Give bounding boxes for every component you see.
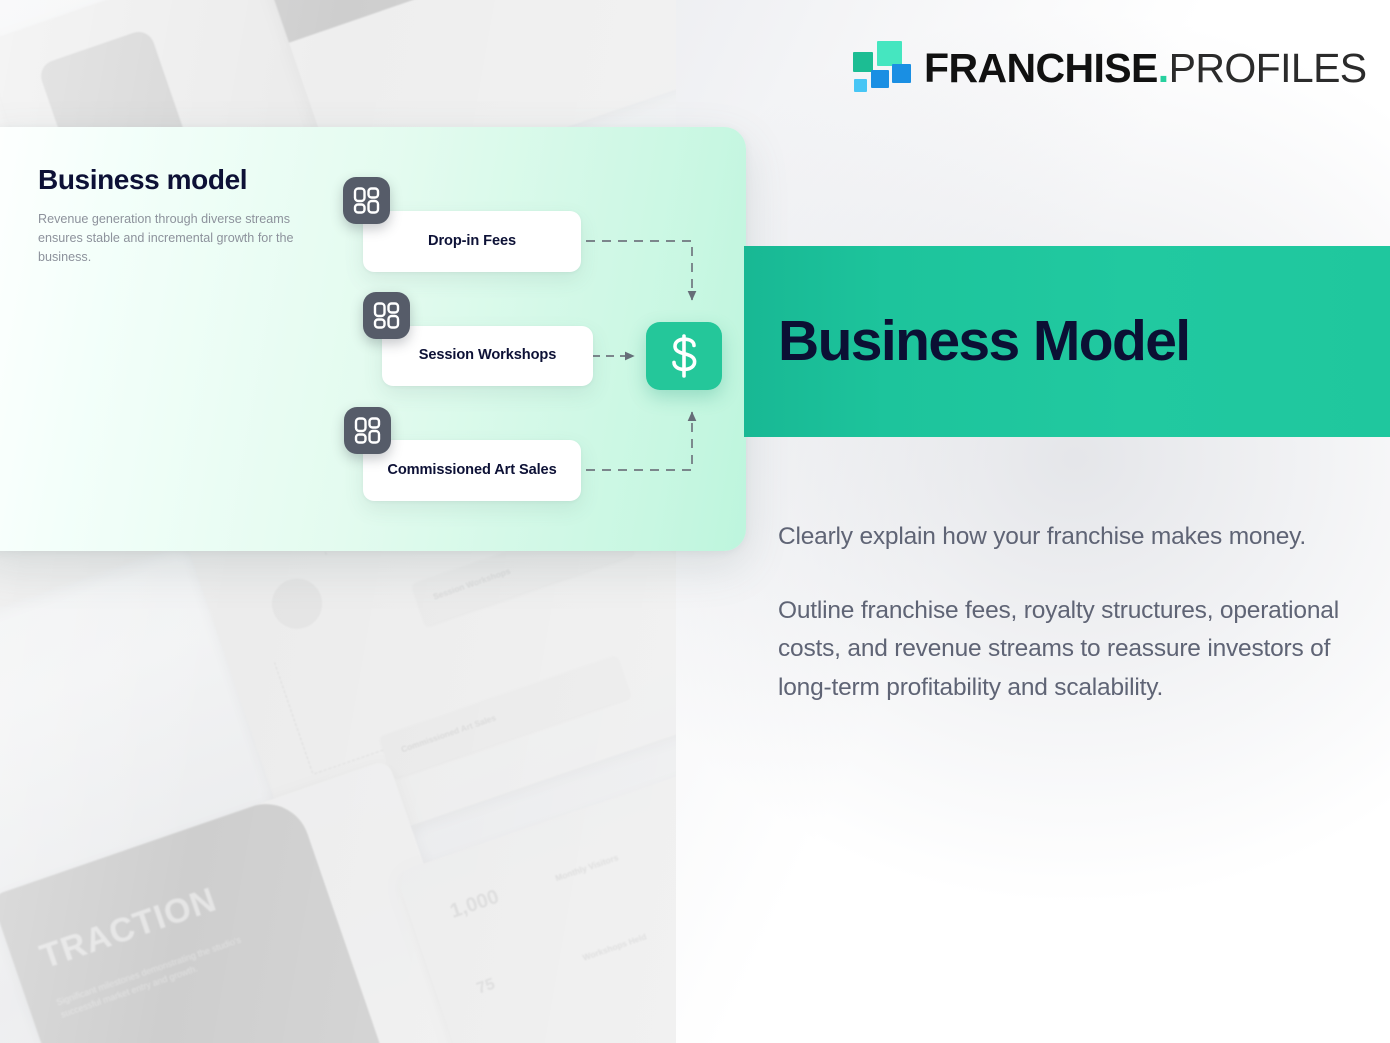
logo-word-secondary: PROFILES bbox=[1169, 45, 1367, 91]
section-title-banner: Business Model bbox=[744, 246, 1390, 437]
slide-page: MARKET spaces in urban and suburban area… bbox=[0, 0, 1390, 1043]
revenue-node-commissioned-art-sales[interactable]: Commissioned Art Sales bbox=[363, 440, 581, 501]
revenue-node-drop-in-fees[interactable]: Drop-in Fees bbox=[363, 211, 581, 272]
logo-word-dot: . bbox=[1158, 45, 1169, 91]
revenue-node-label: Drop-in Fees bbox=[414, 233, 530, 251]
logo-square-blue-right bbox=[892, 64, 911, 83]
logo-square-teal-dark bbox=[853, 52, 873, 72]
grid-icon bbox=[363, 292, 410, 339]
page-title: Business Model bbox=[778, 313, 1190, 370]
grid-icon bbox=[343, 177, 390, 224]
revenue-node-label: Commissioned Art Sales bbox=[373, 462, 570, 480]
logo-square-mint-large bbox=[877, 41, 902, 66]
logo-mark-icon bbox=[851, 41, 907, 95]
revenue-hub-node[interactable] bbox=[646, 322, 722, 390]
description-text: Clearly explain how your franchise makes… bbox=[778, 518, 1348, 707]
revenue-node-label: Session Workshops bbox=[405, 347, 571, 365]
description-paragraph-1: Clearly explain how your franchise makes… bbox=[778, 518, 1348, 556]
description-paragraph-2: Outline franchise fees, royalty structur… bbox=[778, 592, 1348, 707]
logo-word-primary: FRANCHISE bbox=[924, 45, 1158, 91]
logo-square-blue-mid bbox=[871, 70, 889, 88]
logo-wordmark: FRANCHISE.PROFILES bbox=[924, 48, 1367, 89]
dollar-icon bbox=[664, 332, 704, 380]
brand-logo[interactable]: FRANCHISE.PROFILES bbox=[851, 41, 1367, 95]
logo-square-cyan-small bbox=[854, 79, 867, 92]
grid-icon bbox=[344, 407, 391, 454]
revenue-node-session-workshops[interactable]: Session Workshops bbox=[382, 326, 593, 386]
